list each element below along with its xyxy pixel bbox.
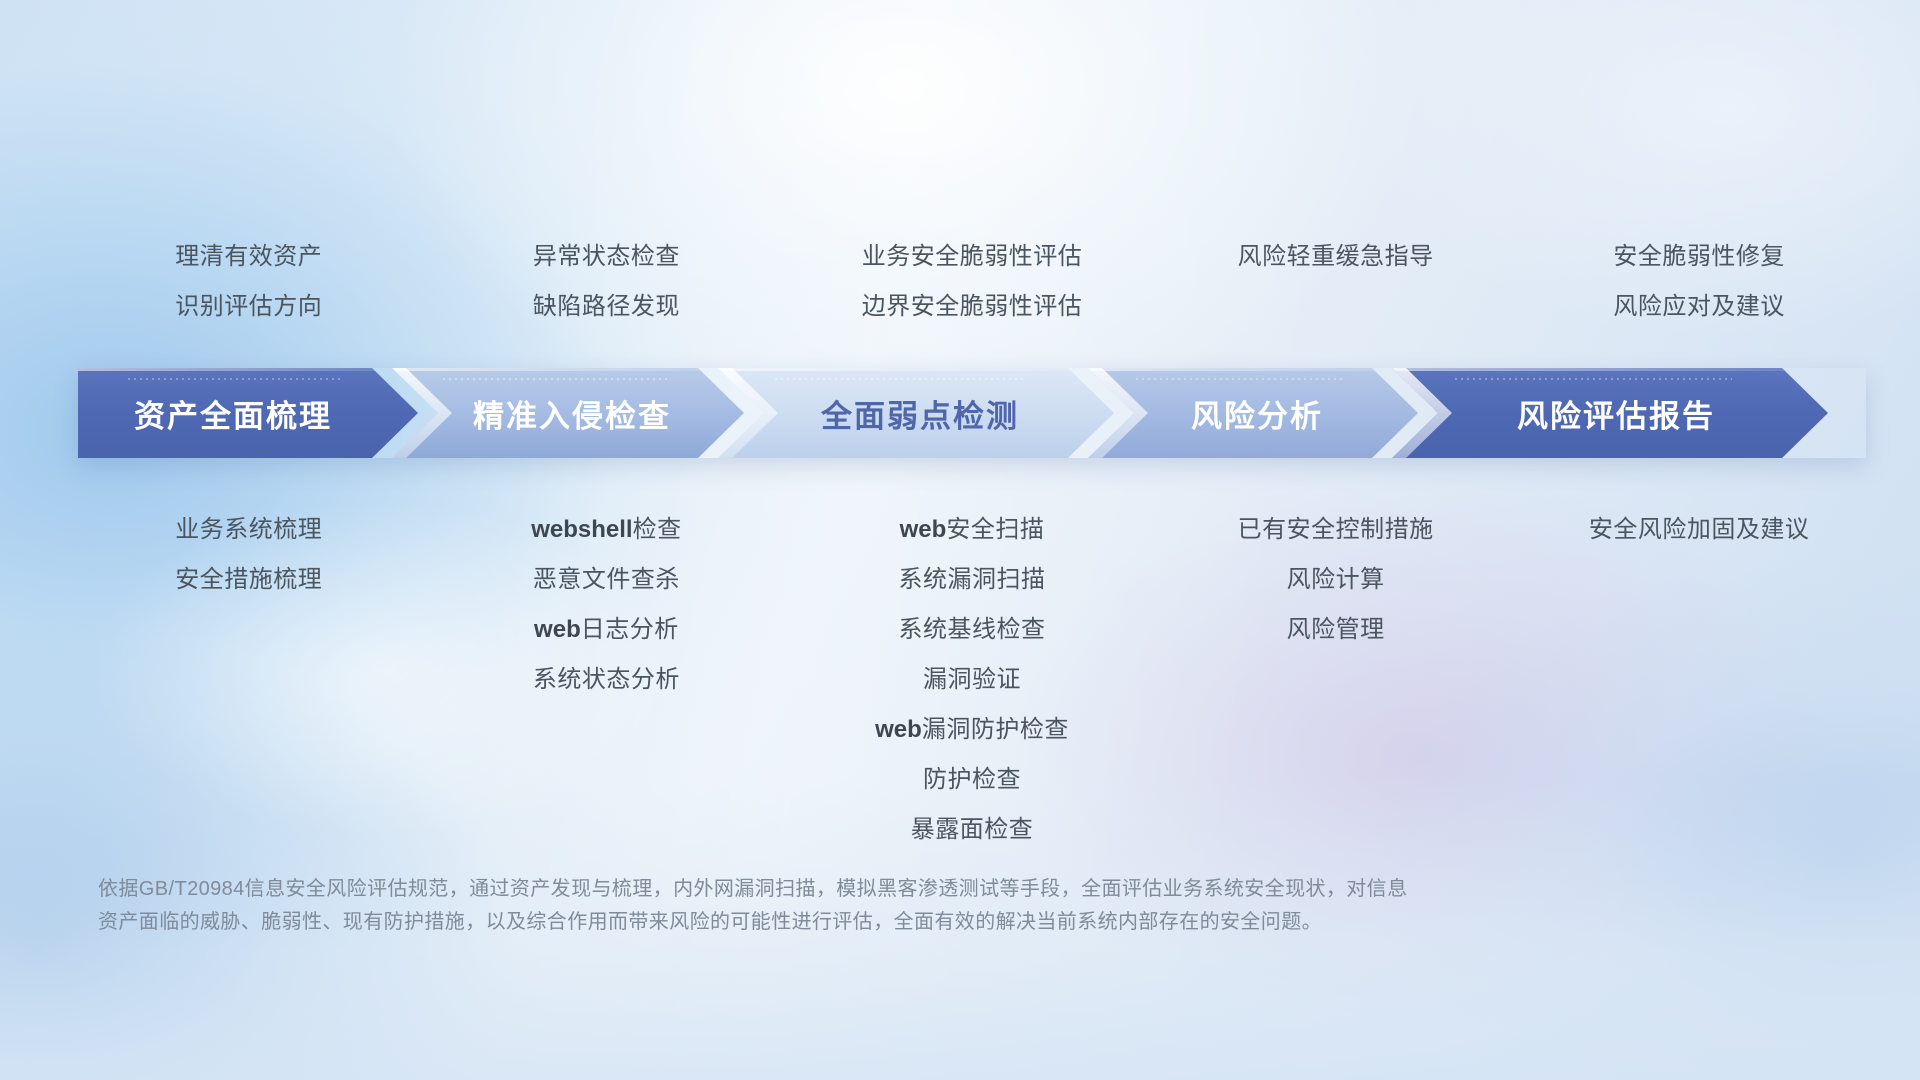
latin-run: web — [534, 616, 581, 643]
below-item: 漏洞验证 — [923, 655, 1021, 705]
footer-line-1: 依据GB/T20984信息安全风险评估规范，通过资产发现与梳理，内外网漏洞扫描，… — [98, 873, 1618, 906]
latin-run: web — [900, 516, 947, 543]
below-item: 安全风险加固及建议 — [1589, 505, 1810, 555]
above-column-risk-analysis: 风险轻重缓急指导 — [1157, 232, 1515, 332]
above-column-risk-report: 安全脆弱性修复 风险应对及建议 — [1520, 232, 1878, 332]
above-item: 异常状态检查 — [533, 232, 680, 282]
below-item: 已有安全控制措施 — [1238, 505, 1434, 555]
below-item: 系统状态分析 — [533, 655, 680, 705]
above-item: 识别评估方向 — [175, 282, 322, 332]
below-item: 安全措施梳理 — [175, 555, 322, 605]
above-column-intrusion-check: 异常状态检查 缺陷路径发现 — [428, 232, 786, 332]
below-item: web日志分析 — [534, 605, 679, 655]
below-item: 恶意文件查杀 — [533, 555, 680, 605]
below-item: 业务系统梳理 — [175, 505, 322, 555]
stage-chevron-asset-inventory[interactable]: 资产全面梳理 — [78, 368, 418, 458]
diagram-content: 理清有效资产 识别评估方向 异常状态检查 缺陷路径发现 业务安全脆弱性评估 边界… — [0, 0, 1920, 1080]
stage-label: 精准入侵检查 — [473, 391, 671, 436]
latin-run: webshell — [531, 516, 632, 543]
stage-chevron-weakness-detection[interactable]: 全面弱点检测 — [718, 368, 1114, 458]
stage-label: 风险分析 — [1191, 391, 1323, 436]
above-column-weakness-detection: 业务安全脆弱性评估 边界安全脆弱性评估 — [793, 232, 1151, 332]
below-column-asset-inventory: 业务系统梳理 安全措施梳理 — [70, 505, 428, 855]
above-item: 风险轻重缓急指导 — [1238, 232, 1434, 282]
below-column-risk-report: 安全风险加固及建议 — [1520, 505, 1878, 855]
stage-label: 风险评估报告 — [1517, 391, 1715, 436]
stage-band: 资产全面梳理 精准入侵检查 全面弱点检测 风险分析 风险评估报告 — [78, 368, 1866, 458]
above-item: 安全脆弱性修复 — [1613, 232, 1785, 282]
below-item: 风险管理 — [1287, 605, 1385, 655]
below-item: 防护检查 — [923, 755, 1021, 805]
above-items-row: 理清有效资产 识别评估方向 异常状态检查 缺陷路径发现 业务安全脆弱性评估 边界… — [78, 232, 1866, 332]
stage-chevron-risk-analysis[interactable]: 风险分析 — [1088, 368, 1418, 458]
stage-chevron-risk-report[interactable]: 风险评估报告 — [1392, 368, 1828, 458]
below-column-risk-analysis: 已有安全控制措施 风险计算 风险管理 — [1157, 505, 1515, 855]
above-item: 风险应对及建议 — [1613, 282, 1785, 332]
below-item: web安全扫描 — [900, 505, 1045, 555]
below-items-row: 业务系统梳理 安全措施梳理 webshell检查 恶意文件查杀 web日志分析 … — [78, 505, 1866, 855]
below-item: 系统基线检查 — [898, 605, 1045, 655]
stage-label: 全面弱点检测 — [821, 391, 1019, 436]
below-item: web漏洞防护检查 — [875, 705, 1069, 755]
stage-label: 资产全面梳理 — [134, 391, 332, 436]
latin-run: web — [875, 716, 922, 743]
below-item: 风险计算 — [1287, 555, 1385, 605]
above-item: 业务安全脆弱性评估 — [862, 232, 1083, 282]
below-item: 系统漏洞扫描 — [898, 555, 1045, 605]
footer-description: 依据GB/T20984信息安全风险评估规范，通过资产发现与梳理，内外网漏洞扫描，… — [98, 873, 1618, 939]
above-item: 边界安全脆弱性评估 — [862, 282, 1083, 332]
below-item: 暴露面检查 — [911, 805, 1034, 855]
footer-line-2: 资产面临的威胁、脆弱性、现有防护措施，以及综合作用而带来风险的可能性进行评估，全… — [98, 906, 1618, 939]
slide-canvas: 理清有效资产 识别评估方向 异常状态检查 缺陷路径发现 业务安全脆弱性评估 边界… — [0, 0, 1920, 1080]
stage-chevron-intrusion-check[interactable]: 精准入侵检查 — [392, 368, 744, 458]
below-column-intrusion-check: webshell检查 恶意文件查杀 web日志分析 系统状态分析 — [428, 505, 786, 855]
above-item: 理清有效资产 — [175, 232, 322, 282]
above-item: 缺陷路径发现 — [533, 282, 680, 332]
below-column-weakness-detection: web安全扫描 系统漏洞扫描 系统基线检查 漏洞验证 web漏洞防护检查 防护检… — [793, 505, 1151, 855]
above-column-asset-inventory: 理清有效资产 识别评估方向 — [70, 232, 428, 332]
below-item: webshell检查 — [531, 505, 681, 555]
